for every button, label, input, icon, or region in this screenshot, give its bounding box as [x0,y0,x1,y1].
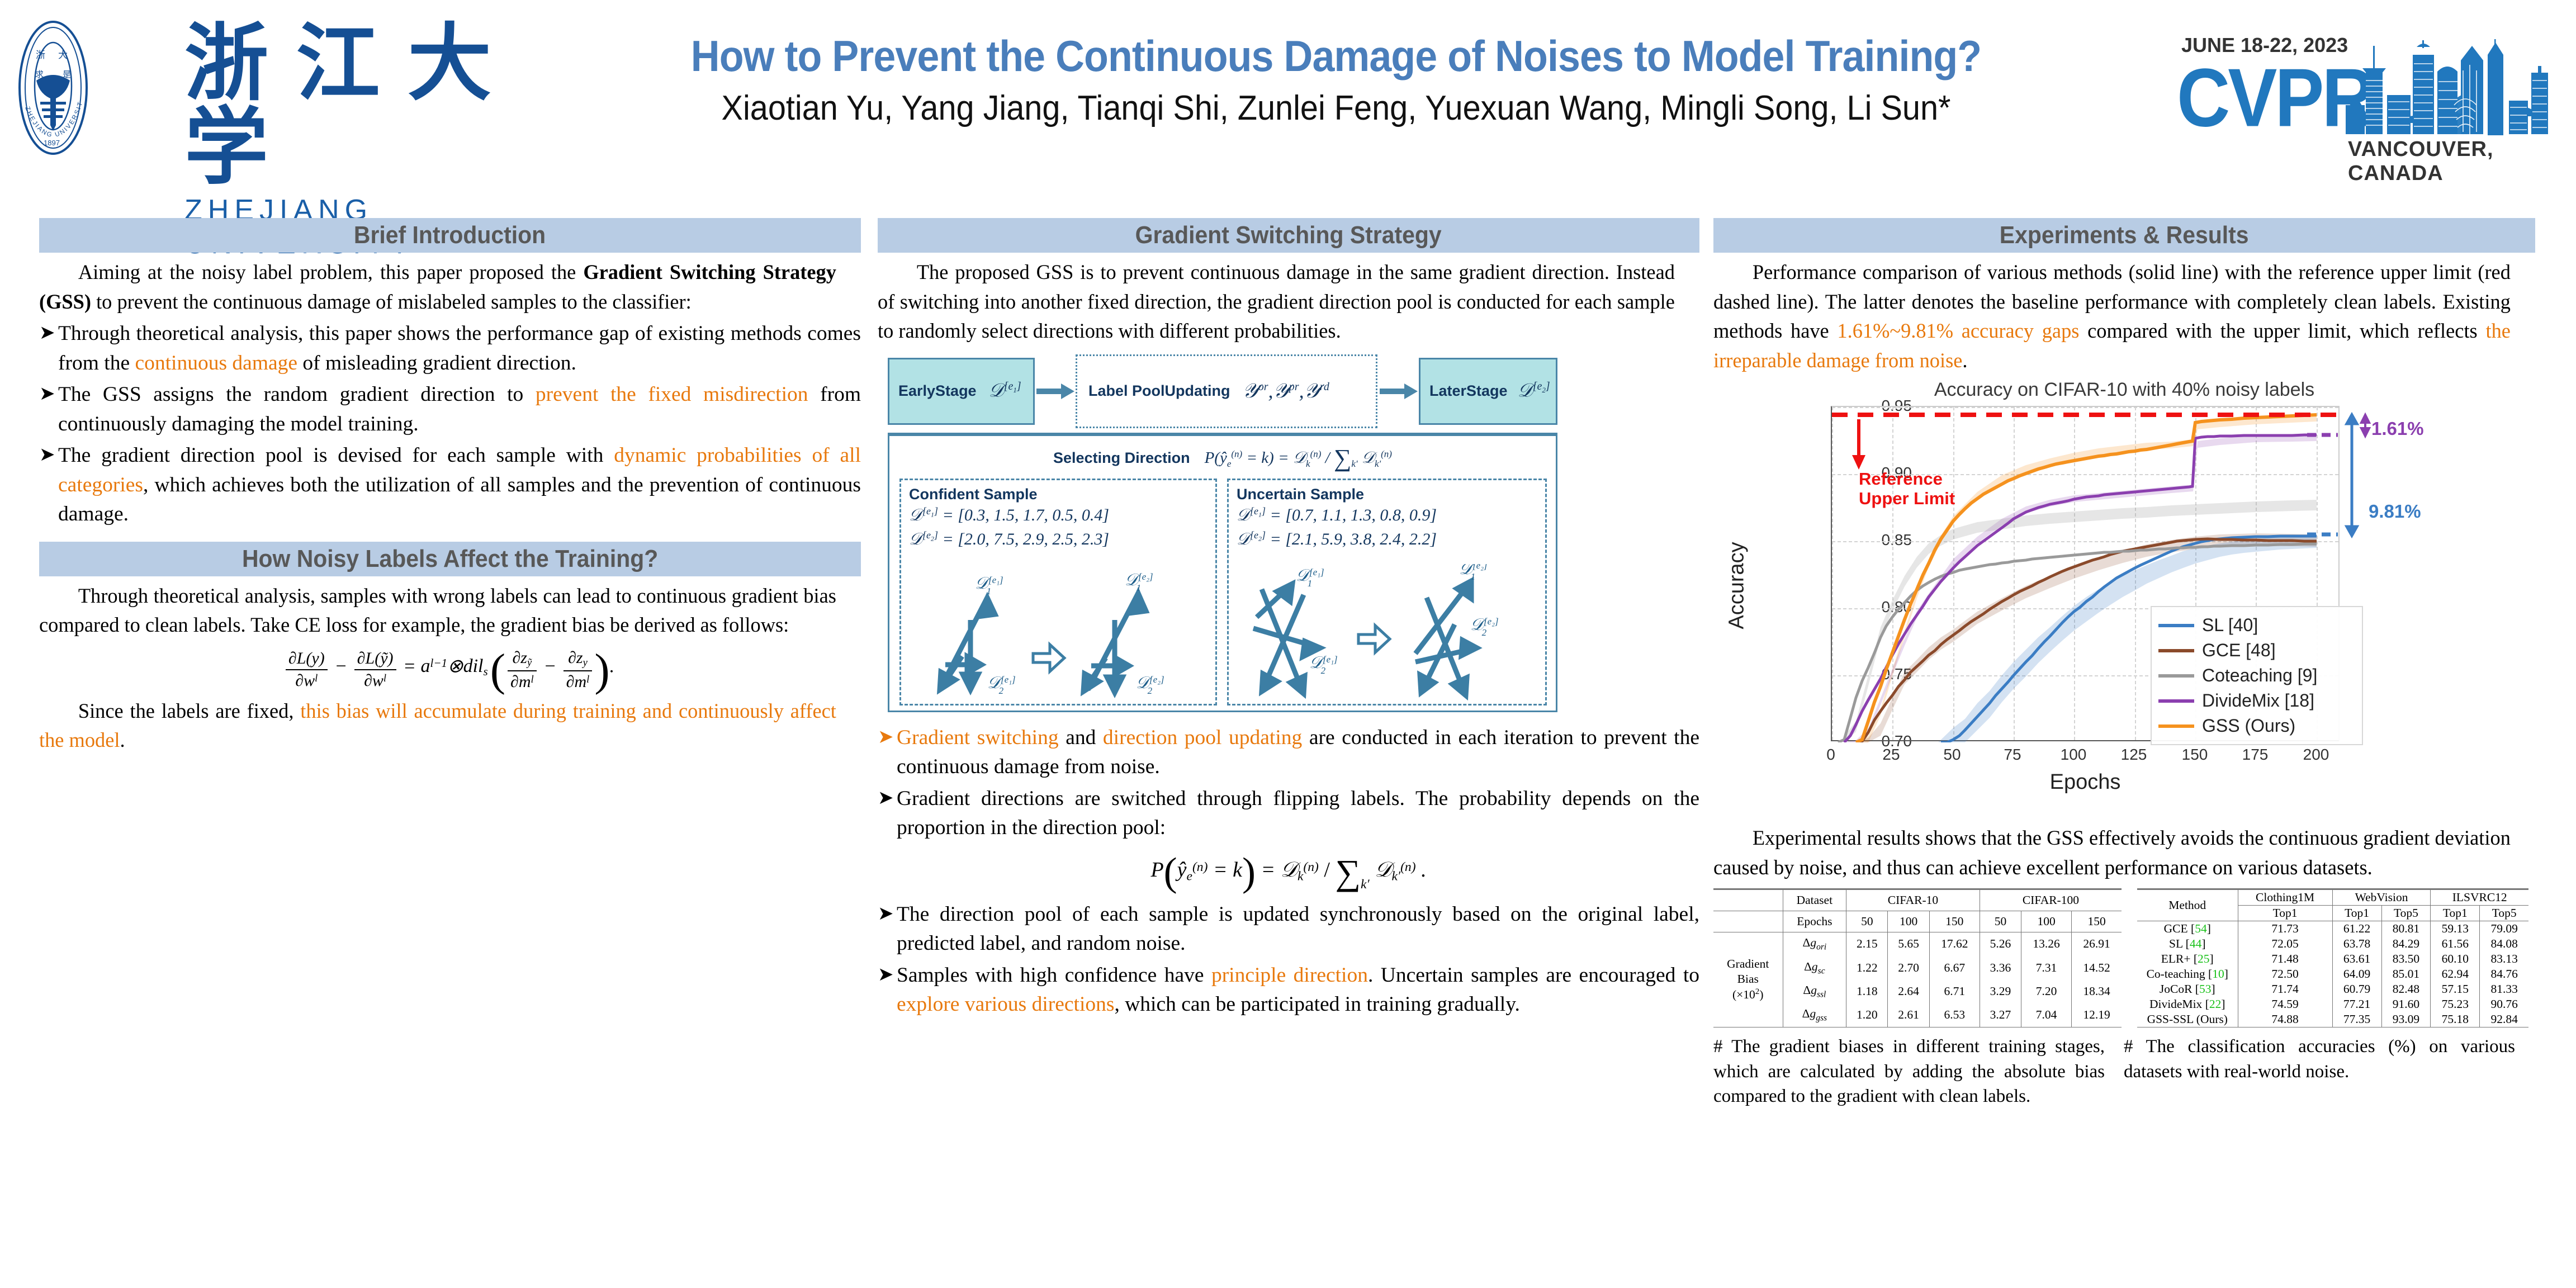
direction-pool-probability-formula: P(ŷe(n) = k) = 𝒟k(n) / ∑k′ 𝒟k′(n) . [878,852,1699,893]
diagram-confident-sample-panel: Confident Sample 𝒟[e1] = [0.3, 1.5, 1.7,… [899,479,1217,705]
caption-gradient-bias: # The gradient biases in different train… [1713,1034,2105,1109]
highlight: principle direction [1211,964,1368,987]
chart-x-tick: 175 [2242,746,2269,764]
list-item: ➤ The direction pool of each sample is u… [878,900,1699,959]
table-cell: 71.48 [2238,951,2332,967]
legend-swatch [2158,724,2194,728]
table-cell: 83.50 [2381,951,2431,967]
zhejiang-university-wordmark: 浙 江 大 学 ZHEJIANG UNIVERSITY [184,22,520,162]
table-cell: 2.64 [1888,979,1929,1003]
chart-x-tick: 125 [2121,746,2147,764]
table-cell-metric: Δggss [1783,1003,1846,1027]
confident-sample-vectors: 𝒟[e₁]1 𝒟[e₁]2 𝒟[e₂]1 [903,564,1216,704]
svg-text:𝒟[e₂]1: 𝒟[e₂]1 [1459,564,1488,582]
table-row: Epochs 50 100 150 50 100 150 [1713,911,2122,932]
table-header-cell: WebVision [2332,889,2431,906]
legend-item: GSS (Ours) [2158,713,2355,738]
section-header-brief-introduction: Brief Introduction [39,218,861,253]
table-cell: 77.35 [2332,1012,2381,1027]
section-title: Gradient Switching Strategy [1135,221,1442,249]
table-header-cell: Dataset [1783,889,1846,911]
table-header-cell: Epochs [1783,911,1846,932]
page-title: How to Prevent the Continuous Damage of … [600,31,2071,82]
table-cell: 18.34 [2072,979,2122,1003]
table-cell: 83.13 [2480,951,2528,967]
confident-sample-label: Confident Sample [909,486,1215,503]
table-cell: 60.10 [2431,951,2480,967]
gss-method-diagram: EarlyStage 𝒟[e1] Label PoolUpdating 𝒴or,… [888,354,1687,718]
conference-city: VANCOUVER, CANADA [2348,138,2555,186]
table-cell: 63.78 [2332,936,2381,951]
column-brief-introduction: Brief Introduction Aiming at the noisy l… [39,218,861,758]
bullet-arrow-icon: ➤ [878,961,897,1020]
table-cell: 1.22 [1846,956,1888,979]
selecting-direction-label: Selecting Direction [1053,449,1190,467]
svg-text:𝒟[e₁]1: 𝒟[e₁]1 [975,574,1003,596]
legend-swatch [2158,699,2194,703]
legend-label: DivideMix [18] [2202,690,2314,711]
table-header-cell: Top5 [2480,906,2528,921]
diagram-box-later-stage: LaterStage 𝒟[e2] [1419,358,1557,425]
bullet-arrow-icon: ➤ [878,900,897,959]
citation-ref: 25 [2198,952,2210,965]
university-name-cn: 浙 江 大 学 [184,22,520,190]
accuracy-line-chart: Accuracy on CIFAR-10 with 40% noisy labe… [1747,379,2502,821]
svg-text:𝒟[e₂]2: 𝒟[e₂]2 [1470,615,1499,638]
table-cell-method: ELR+ [25] [2137,951,2238,967]
table-cell-method: GSS-SSL (Ours) [2137,1012,2238,1027]
table-cell-method: Co-teaching [10] [2137,967,2238,982]
table-cell: 3.27 [1980,1003,2021,1027]
chart-x-axis-label: Epochs [1831,770,2340,794]
table-cell: 72.50 [2238,967,2332,982]
uncertain-sample-e2: 𝒟[e2] = [2.1, 5.9, 3.8, 2.4, 2.2] [1237,529,1545,549]
chart-reference-annotation: ReferenceUpper Limit [1859,470,1955,508]
table-cell: 7.20 [2021,979,2072,1003]
table-cell: 64.09 [2332,967,2381,982]
table-cell: 1.20 [1846,1003,1888,1027]
table-cell: 63.61 [2332,951,2381,967]
table-cell: 12.19 [2072,1003,2122,1027]
svg-text:𝒟[e₂]2: 𝒟[e₂]2 [1136,674,1164,696]
svg-text:𝒟[e₁]2: 𝒟[e₁]2 [1309,654,1338,676]
table-header-cell: ILSVRC12 [2431,889,2528,906]
legend-swatch [2158,624,2194,627]
table-captions-row: # The gradient biases in different train… [1713,1027,2535,1109]
chart-x-tick: 0 [1826,746,1835,764]
bullet-text: The direction pool of each sample is upd… [897,900,1699,959]
table-cell: 74.88 [2238,1012,2332,1027]
table-cell: 77.21 [2332,997,2381,1012]
table-cell: 75.23 [2431,997,2480,1012]
uncertain-sample-label: Uncertain Sample [1237,486,1545,503]
chart-x-tick: 75 [2004,746,2021,764]
chart-x-tick: 25 [1882,746,1900,764]
highlight: prevent the fixed misdirection [536,383,808,406]
bullet-text: Gradient switching and direction pool up… [897,723,1699,782]
table-cell: 2.15 [1846,932,1888,956]
lead-pre: Aiming at the noisy label problem, this … [78,261,584,284]
lead-post: to prevent the continuous damage of misl… [91,291,692,314]
table-cell: 2.61 [1888,1003,1929,1027]
bullet-arrow-icon: ➤ [39,441,58,529]
selecting-direction-row: Selecting Direction P(ŷe(n) = k) = 𝒟k(n)… [889,444,1556,472]
table-cell: 6.71 [1929,979,1980,1003]
table-accuracy-real-world-noise: Method Clothing1M WebVision ILSVRC12 Top… [2137,888,2528,1027]
table-header-cell: CIFAR-100 [1980,889,2122,911]
bullet-text: Samples with high confidence have princi… [897,961,1699,1020]
table-header-cell: 50 [1846,911,1888,932]
svg-text:𝒟[e₁]2: 𝒟[e₁]2 [987,674,1016,696]
table-cell: 17.62 [1929,932,1980,956]
svg-text:是: 是 [63,70,71,79]
table-cell: 5.65 [1888,932,1929,956]
legend-label: GSS (Ours) [2202,716,2295,736]
early-stage-label: EarlyStage [898,381,977,401]
citation-ref: 53 [2199,982,2212,996]
table-cell: 6.53 [1929,1003,1980,1027]
results-tables-row: Dataset CIFAR-10 CIFAR-100 Epochs 50 100… [1713,888,2535,1027]
table-cell: 71.74 [2238,982,2332,997]
table-cell: 14.52 [2072,956,2122,979]
list-item: ➤ Through theoretical analysis, this pap… [39,319,861,378]
highlight: explore various directions [897,993,1114,1016]
table-cell: 61.22 [2332,921,2381,937]
diagram-box-label-pool-updating: Label PoolUpdating 𝒴or,𝒴pr,𝒴rd [1076,354,1377,428]
table-cell: 72.05 [2238,936,2332,951]
table-header-cell: 100 [2021,911,2072,932]
table-header-cell: 50 [1980,911,2021,932]
table-row: ELR+ [25] 71.48 63.61 83.50 60.10 83.13 [2137,951,2528,967]
legend-swatch [2158,674,2194,678]
legend-label: SL [40] [2202,615,2258,636]
table-cell: 84.76 [2480,967,2528,982]
table-cell-metric: Δgori [1783,932,1846,956]
svg-text:1897: 1897 [44,139,60,147]
bullet-text: Gradient directions are switched through… [897,784,1699,843]
chart-gap-label-161: 1.61% [2371,418,2424,439]
table-cell: 85.01 [2381,967,2431,982]
title-block: How to Prevent the Continuous Damage of … [537,31,2135,128]
table-cell: 7.31 [2021,956,2072,979]
bullet-arrow-icon: ➤ [878,723,897,782]
later-stage-math: 𝒟[e2] [1518,380,1550,401]
table-cell-method: SL [44] [2137,936,2238,951]
table-cell: 79.09 [2480,921,2528,937]
label-pool-updating-label: Label PoolUpdating [1088,381,1230,401]
table-cell: 59.13 [2431,921,2480,937]
table-cell-metric: Δgsc [1783,956,1846,979]
table-header-cell: 150 [1929,911,1980,932]
table-row [1713,1027,2122,1027]
table-header-cell: Method [2137,889,2238,921]
table-cell: 82.48 [2381,982,2431,997]
section-header-gradient-switching-strategy: Gradient Switching Strategy [878,218,1699,253]
noisy-labels-para2: Since the labels are fixed, this bias wi… [39,697,836,756]
table-row-group-label: GradientBias(×102) [1713,932,1783,1027]
bullet-text: The gradient direction pool is devised f… [58,441,861,529]
citation-ref: 22 [2209,997,2222,1011]
table-cell: 92.84 [2480,1012,2528,1027]
chart-gap-label-981: 9.81% [2369,501,2421,522]
table-cell: 90.76 [2480,997,2528,1012]
table-cell-method: GCE [54] [2137,921,2238,937]
table-cell-method: JoCoR [53] [2137,982,2238,997]
column-experiments-and-results: Experiments & Results Performance compar… [1713,218,2535,1109]
chart-x-tick: 200 [2303,746,2329,764]
section-header-how-noisy-labels: How Noisy Labels Affect the Training? [39,542,861,576]
arrow-right-icon [1380,383,1418,399]
table-row: GSS-SSL (Ours) 74.88 77.35 93.09 75.18 9… [2137,1012,2528,1027]
author-list: Xiaotian Yu, Yang Jiang, Tianqi Shi, Zun… [593,88,2080,128]
table-row: Dataset CIFAR-10 CIFAR-100 [1713,889,2122,911]
table-header-cell: Top5 [2381,906,2431,921]
brief-intro-lead: Aiming at the noisy label problem, this … [39,258,836,317]
table-gradient-bias: Dataset CIFAR-10 CIFAR-100 Epochs 50 100… [1713,888,2122,1027]
bullet-arrow-icon: ➤ [39,380,58,439]
caption-accuracy: # The classification accuracies (%) on v… [2124,1034,2515,1109]
table-cell-method: DivideMix [22] [2137,997,2238,1012]
chart-y-axis-label: Accuracy [1725,542,1749,629]
list-item: ➤ Samples with high confidence have prin… [878,961,1699,1020]
table-cell: 26.91 [2072,932,2122,956]
highlight: direction pool updating [1103,726,1302,749]
section-title: Experiments & Results [2000,221,2249,249]
table-cell: 1.18 [1846,979,1888,1003]
table-header-cell: Clothing1M [2238,889,2332,906]
legend-item: SL [40] [2158,613,2355,638]
citation-ref: 44 [2190,937,2202,950]
table-cell: 62.94 [2431,967,2480,982]
svg-text:𝒟[e₂]1: 𝒟[e₂]1 [1125,571,1153,593]
table-row [2137,1027,2528,1028]
table-row: DivideMix [22] 74.59 77.21 91.60 75.23 9… [2137,997,2528,1012]
section-title: Brief Introduction [354,221,546,249]
table-cell: 91.60 [2381,997,2431,1012]
confident-sample-e2: 𝒟[e2] = [2.0, 7.5, 2.9, 2.5, 2.3] [909,529,1215,549]
cvpr-conference-logo: JUNE 18-22, 2023 CVPR [2163,34,2555,173]
citation-ref: 10 [2212,967,2224,981]
table-cell: 75.18 [2431,1012,2480,1027]
table-cell: 81.33 [2480,982,2528,997]
vancouver-skyline-icon [2343,39,2550,137]
table-header-cell: CIFAR-10 [1846,889,1980,911]
table-cell: 74.59 [2238,997,2332,1012]
confident-sample-e1: 𝒟[e1] = [0.3, 1.5, 1.7, 0.5, 0.4] [909,505,1215,525]
table-cell: 84.08 [2480,936,2528,951]
experiments-para2: Experimental results shows that the GSS … [1713,824,2511,883]
table-cell: 7.04 [2021,1003,2072,1027]
table-cell: 93.09 [2381,1012,2431,1027]
legend-label: Coteaching [9] [2202,665,2317,686]
table-cell: 60.79 [2332,982,2381,997]
bullet-text: Through theoretical analysis, this paper… [58,319,861,378]
column-gradient-switching-strategy: Gradient Switching Strategy The proposed… [878,218,1699,1022]
legend-label: GCE [48] [2202,640,2276,661]
table-cell: 71.73 [2238,921,2332,937]
early-stage-math: 𝒟[e1] [989,380,1021,401]
table-cell: 5.26 [1980,932,2021,956]
poster-header: 浙 大 求 是 1897 ZHEJIANG UNIVERSITY 浙 江 大 学… [0,0,2576,184]
table-row: Co-teaching [10] 72.50 64.09 85.01 62.94… [2137,967,2528,982]
table-cell: 84.29 [2381,936,2431,951]
section-title: How Noisy Labels Affect the Training? [242,545,658,573]
svg-text:大: 大 [58,50,68,60]
arrow-right-icon [1036,383,1074,399]
bullet-arrow-icon: ➤ [39,319,58,378]
legend-item: Coteaching [9] [2158,663,2355,688]
later-stage-label: LaterStage [1429,381,1508,401]
legend-item: GCE [48] [2158,638,2355,663]
uncertain-sample-vectors: 𝒟[e₁]1 𝒟[e₁]2 𝒟[e₂]1 [1231,564,1544,704]
chart-legend: SL [40] GCE [48] Coteaching [9] DivideMi… [2151,606,2363,745]
table-row: SL [44] 72.05 63.78 84.29 61.56 84.08 [2137,936,2528,951]
table-cell: 61.56 [2431,936,2480,951]
table-header-cell: 100 [1888,911,1929,932]
gradient-bias-formula: ∂L(y)∂wl − ∂L(ỹ)∂wl = al−1⊗dils ( ∂zỹ∂ml… [39,648,861,692]
list-item: ➤ Gradient directions are switched throu… [878,784,1699,843]
table-row: Method Clothing1M WebVision ILSVRC12 [2137,889,2528,906]
chart-x-tick: 150 [2182,746,2208,764]
diagram-uncertain-sample-panel: Uncertain Sample 𝒟[e1] = [0.7, 1.1, 1.3,… [1227,479,1547,705]
gss-para1: The proposed GSS is to prevent continuou… [878,258,1675,347]
section-header-experiments-results: Experiments & Results [1713,218,2535,253]
highlight: continuous damage [135,352,297,375]
table-row: JoCoR [53] 71.74 60.79 82.48 57.15 81.33 [2137,982,2528,997]
table-cell: 80.81 [2381,921,2431,937]
svg-text:𝒟[e₁]1: 𝒟[e₁]1 [1296,566,1324,589]
chart-title: Accuracy on CIFAR-10 with 40% noisy labe… [1747,379,2502,401]
table-row: GradientBias(×102) Δgori 2.15 5.65 17.62… [1713,932,2122,956]
chart-x-tick: 50 [1943,746,1961,764]
table-cell: 2.70 [1888,956,1929,979]
chart-plot-area: ReferenceUpper Limit 1.61% 9.81% SL [40]… [1831,406,2340,741]
list-item: ➤ The GSS assigns the random gradient di… [39,380,861,439]
label-pool-math: 𝒴or,𝒴pr,𝒴rd [1243,379,1329,403]
table-header-cell: Top1 [2332,906,2381,921]
svg-text:求: 求 [35,70,44,79]
list-item: ➤ Gradient switching and direction pool … [878,723,1699,782]
table-cell: 13.26 [2021,932,2072,956]
bullet-text: The GSS assigns the random gradient dire… [58,380,861,439]
legend-item: DivideMix [18] [2158,688,2355,713]
highlight: 1.61%~9.81% accuracy gaps [1837,320,2079,343]
diagram-box-early-stage: EarlyStage 𝒟[e1] [888,358,1035,425]
table-row: GCE [54] 71.73 61.22 80.81 59.13 79.09 [2137,921,2528,937]
table-cell: 3.29 [1980,979,2021,1003]
experiments-para1: Performance comparison of various method… [1713,258,2511,376]
citation-ref: 54 [2195,922,2207,935]
table-header-cell: Top1 [2238,906,2332,921]
table-cell: 57.15 [2431,982,2480,997]
diagram-selecting-direction-panel: Selecting Direction P(ŷe(n) = k) = 𝒟k(n)… [888,433,1557,712]
svg-text:浙: 浙 [36,50,45,60]
zhejiang-university-seal-logo: 浙 大 求 是 1897 ZHEJIANG UNIVERSITY [11,18,95,158]
table-cell-metric: Δgssl [1783,979,1846,1003]
list-item: ➤ The gradient direction pool is devised… [39,441,861,529]
bullet-arrow-icon: ➤ [878,784,897,843]
table-cell: 6.67 [1929,956,1980,979]
table-cell: 3.36 [1980,956,2021,979]
chart-x-tick: 100 [2061,746,2087,764]
selecting-direction-formula: P(ŷe(n) = k) = 𝒟k(n) / ∑k' 𝒟k'(n) [1205,444,1392,472]
legend-swatch [2158,649,2194,652]
highlight: Gradient switching [897,726,1059,749]
table-header-cell: Top1 [2431,906,2480,921]
noisy-labels-para1: Through theoretical analysis, samples wi… [39,582,836,641]
table-header-cell: 150 [2072,911,2122,932]
uncertain-sample-e1: 𝒟[e1] = [0.7, 1.1, 1.3, 0.8, 0.9] [1237,505,1545,525]
